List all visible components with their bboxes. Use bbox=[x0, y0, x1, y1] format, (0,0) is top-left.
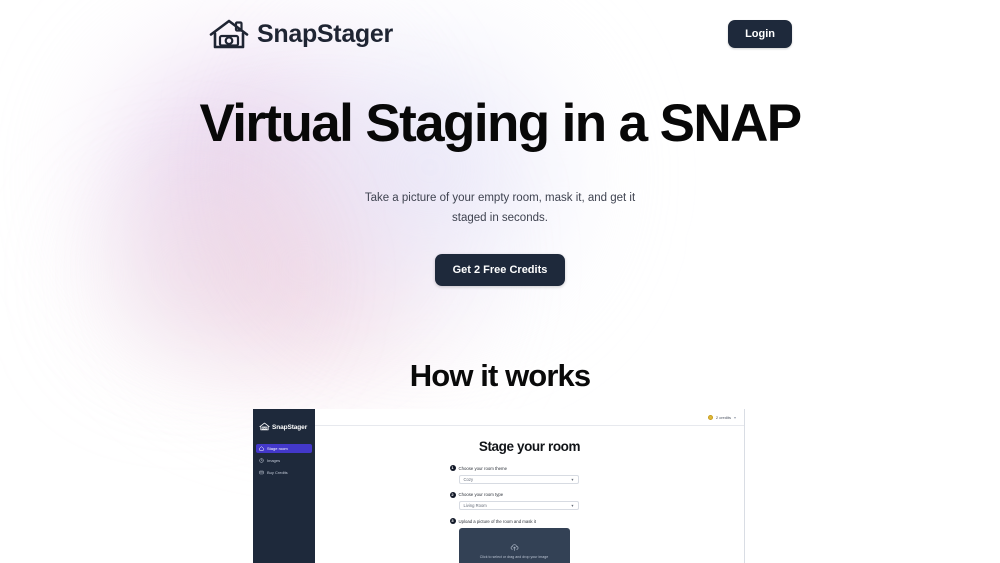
steps-list: 1 Choose your room theme Cozy ▾ 2 Choose… bbox=[450, 465, 610, 563]
app-sidebar-nav: Stage room Images Buy Credits bbox=[253, 444, 315, 477]
chevron-down-icon: ▾ bbox=[571, 503, 573, 508]
clock-icon bbox=[259, 458, 264, 463]
app-topbar: 2 credits ▾ bbox=[315, 409, 744, 426]
image-upload-dropzone[interactable]: Click to select or drag and drop your im… bbox=[459, 528, 570, 563]
sidebar-item-images[interactable]: Images bbox=[256, 456, 312, 465]
step-label: Choose your room theme bbox=[459, 466, 507, 471]
house-camera-icon bbox=[208, 17, 250, 51]
sidebar-item-buy-credits[interactable]: Buy Credits bbox=[256, 468, 312, 477]
chevron-down-icon: ▾ bbox=[571, 477, 573, 482]
login-button[interactable]: Login bbox=[728, 20, 792, 48]
room-theme-select[interactable]: Cozy ▾ bbox=[459, 475, 579, 484]
step-number-badge: 2 bbox=[450, 492, 456, 498]
sidebar-item-stage-room[interactable]: Stage room bbox=[256, 444, 312, 453]
step-3: 3 Upload a picture of the room and mask … bbox=[450, 518, 610, 563]
step-number-badge: 3 bbox=[450, 518, 456, 524]
brand-name: SnapStager bbox=[257, 20, 393, 49]
room-theme-value: Cozy bbox=[464, 477, 474, 482]
room-type-select[interactable]: Living Room ▾ bbox=[459, 501, 579, 510]
sidebar-item-label: Buy Credits bbox=[267, 471, 288, 475]
app-sidebar-brand: SnapStager bbox=[253, 415, 315, 436]
site-header: SnapStager Login bbox=[0, 0, 1000, 68]
hero-section: Virtual Staging in a SNAP Take a picture… bbox=[0, 95, 1000, 286]
cloud-upload-icon bbox=[510, 543, 519, 552]
app-sidebar: SnapStager Stage room Images bbox=[253, 409, 315, 563]
step-2: 2 Choose your room type Living Room ▾ bbox=[450, 492, 610, 511]
step-1-header: 1 Choose your room theme bbox=[450, 465, 610, 471]
step-1: 1 Choose your room theme Cozy ▾ bbox=[450, 465, 610, 484]
house-camera-icon bbox=[259, 418, 270, 436]
dropzone-text: Click to select or drag and drop your im… bbox=[480, 555, 549, 560]
credits-count: 2 credits bbox=[716, 415, 731, 420]
coin-icon bbox=[708, 415, 713, 420]
brand-logo[interactable]: SnapStager bbox=[208, 17, 393, 51]
card-icon bbox=[259, 470, 264, 475]
home-icon bbox=[259, 446, 264, 451]
sidebar-item-label: Images bbox=[267, 459, 280, 463]
step-3-header: 3 Upload a picture of the room and mask … bbox=[450, 518, 610, 524]
how-it-works-title: How it works bbox=[0, 358, 1000, 394]
room-type-value: Living Room bbox=[464, 503, 487, 508]
stage-your-room-title: Stage your room bbox=[315, 439, 744, 454]
app-sidebar-brand-name: SnapStager bbox=[272, 424, 307, 431]
app-content: Stage your room 1 Choose your room theme… bbox=[315, 426, 744, 563]
sidebar-item-label: Stage room bbox=[267, 447, 288, 451]
app-main-area: 2 credits ▾ Stage your room 1 Choose you… bbox=[315, 409, 744, 563]
hero-title: Virtual Staging in a SNAP bbox=[0, 95, 1000, 152]
step-label: Choose your room type bbox=[459, 492, 504, 497]
app-preview-screenshot: SnapStager Stage room Images bbox=[253, 409, 745, 563]
hero-subtitle: Take a picture of your empty room, mask … bbox=[364, 189, 636, 229]
get-free-credits-button[interactable]: Get 2 Free Credits bbox=[435, 254, 566, 286]
chevron-down-icon[interactable]: ▾ bbox=[734, 415, 736, 420]
step-2-header: 2 Choose your room type bbox=[450, 492, 610, 498]
step-number-badge: 1 bbox=[450, 465, 456, 471]
step-label: Upload a picture of the room and mask it bbox=[459, 519, 536, 524]
